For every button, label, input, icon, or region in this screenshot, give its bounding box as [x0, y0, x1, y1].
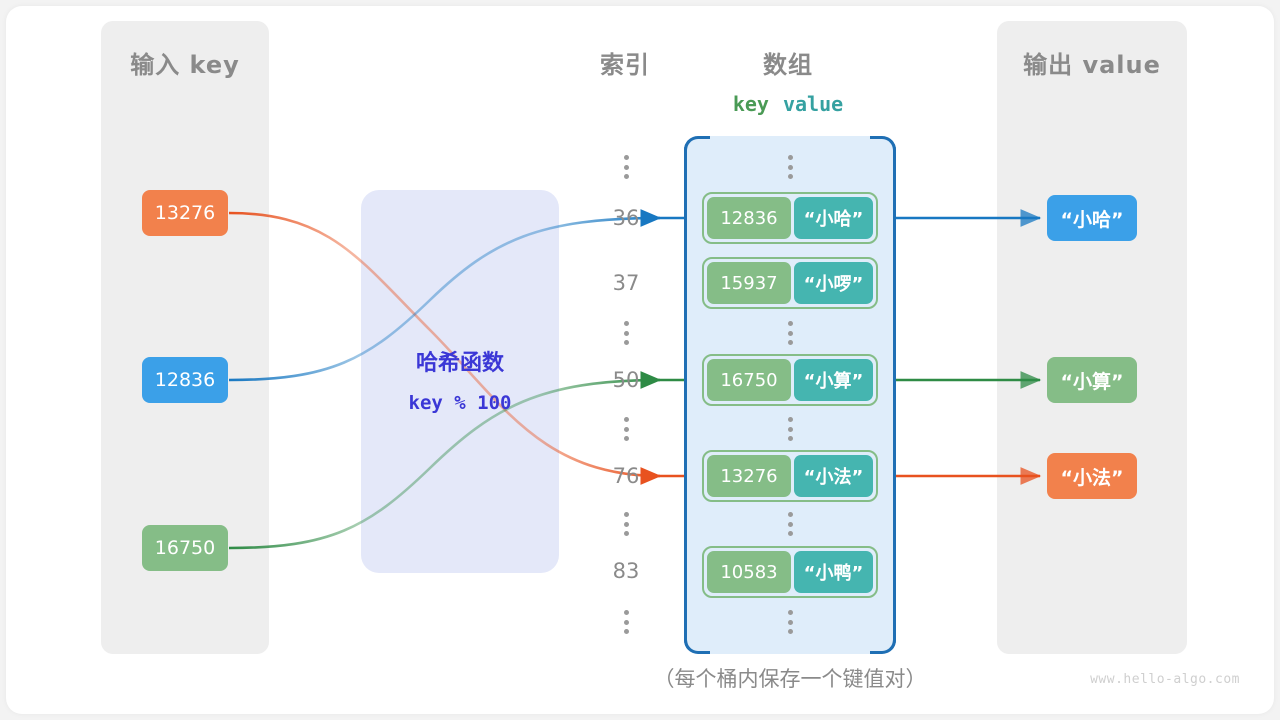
input-key-chip[interactable]: 16750 [142, 525, 228, 571]
array-ellipsis [785, 155, 795, 179]
bucket-row[interactable]: 15937 “小啰” [702, 257, 878, 309]
bucket-value: “小哈” [794, 197, 873, 239]
watermark: www.hello-algo.com [1000, 672, 1240, 687]
diagram-canvas: 输入 key 输出 value 索引 数组 keyvalue [0, 0, 1280, 720]
index-ellipsis [621, 321, 631, 345]
index-ellipsis [621, 610, 631, 634]
output-value-chip[interactable]: “小算” [1047, 357, 1137, 403]
index-label-83: 83 [590, 559, 662, 583]
input-key-chip[interactable]: 12836 [142, 357, 228, 403]
bucket-key: 16750 [707, 359, 791, 401]
index-label-36: 36 [590, 206, 662, 230]
hash-function-expression: key % 100 [361, 392, 559, 414]
bucket-value: “小算” [794, 359, 873, 401]
array-ellipsis [785, 610, 795, 634]
output-value-chip[interactable]: “小哈” [1047, 195, 1137, 241]
bucket-row[interactable]: 13276 “小法” [702, 450, 878, 502]
bucket-key: 13276 [707, 455, 791, 497]
bucket-value: “小啰” [794, 262, 873, 304]
index-label-76: 76 [590, 464, 662, 488]
index-ellipsis [621, 417, 631, 441]
bucket-value: “小法” [794, 455, 873, 497]
bucket-key: 15937 [707, 262, 791, 304]
hash-function-name: 哈希函数 [361, 345, 559, 377]
array-ellipsis [785, 512, 795, 536]
bucket-row[interactable]: 10583 “小鸭” [702, 546, 878, 598]
index-label-50: 50 [590, 368, 662, 392]
output-value-chip[interactable]: “小法” [1047, 453, 1137, 499]
diagram-caption: （每个桶内保存一个键值对） [560, 663, 1020, 693]
index-label-37: 37 [590, 271, 662, 295]
array-ellipsis [785, 417, 795, 441]
input-key-chip[interactable]: 13276 [142, 190, 228, 236]
bucket-row[interactable]: 12836 “小哈” [702, 192, 878, 244]
array-ellipsis [785, 321, 795, 345]
bucket-value: “小鸭” [794, 551, 873, 593]
bucket-row[interactable]: 16750 “小算” [702, 354, 878, 406]
bucket-key: 10583 [707, 551, 791, 593]
index-ellipsis [621, 512, 631, 536]
index-ellipsis [621, 155, 631, 179]
bucket-key: 12836 [707, 197, 791, 239]
